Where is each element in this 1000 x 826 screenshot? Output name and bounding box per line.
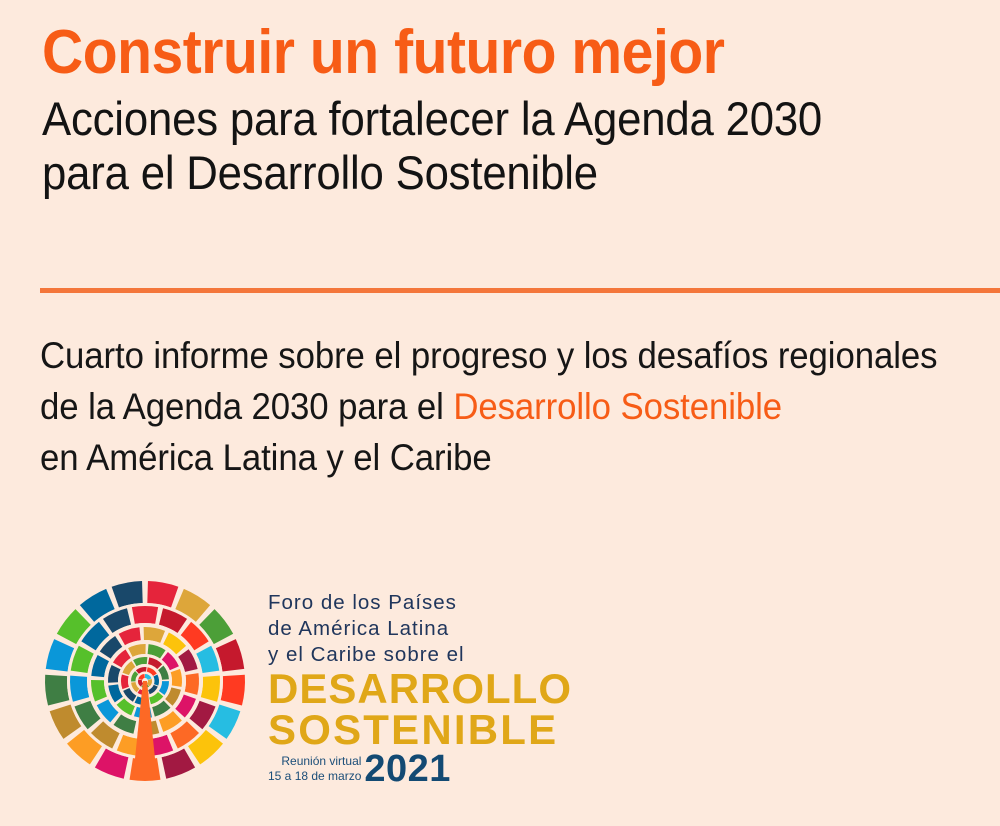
description-line-2-prefix: de la Agenda 2030 para el [40, 386, 453, 427]
forum-line-2: de América Latina [268, 616, 572, 642]
description-line-2: de la Agenda 2030 para el Desarrollo Sos… [40, 381, 938, 432]
meeting-dates: 15 a 18 de marzo [268, 769, 361, 784]
subtitle-line-2: para el Desarrollo Sostenible [42, 146, 907, 200]
logo-headline-desarrollo: DESARROLLO [268, 668, 572, 709]
subtitle-line-1: Acciones para fortalecer la Agenda 2030 [42, 92, 907, 146]
description-line-1: Cuarto informe sobre el progreso y los d… [40, 330, 938, 381]
meeting-details: Reunión virtual 15 a 18 de marzo [268, 754, 364, 786]
title-block: Construir un futuro mejor Acciones para … [42, 18, 972, 200]
description-block: Cuarto informe sobre el progreso y los d… [40, 330, 938, 483]
description-line-3: en América Latina y el Caribe [40, 432, 938, 483]
forum-logo-lockup: Foro de los Países de América Latina y e… [42, 578, 572, 786]
logo-headline-sostenible: SOSTENIBLE [268, 709, 572, 750]
page-title: Construir un futuro mejor [42, 18, 898, 88]
meeting-row: Reunión virtual 15 a 18 de marzo 2021 [268, 752, 572, 786]
page-subtitle: Acciones para fortalecer la Agenda 2030 … [42, 92, 907, 200]
report-cover: Construir un futuro mejor Acciones para … [0, 0, 1000, 826]
horizontal-rule [40, 288, 1000, 293]
logo-text-block: Foro de los Países de América Latina y e… [268, 578, 572, 786]
sdg-spiral-wheel-icon [42, 578, 248, 784]
forum-line-1: Foro de los Países [268, 590, 572, 616]
meeting-year: 2021 [364, 752, 451, 786]
description-accent: Desarrollo Sostenible [453, 386, 782, 427]
meeting-modality: Reunión virtual [268, 754, 361, 769]
